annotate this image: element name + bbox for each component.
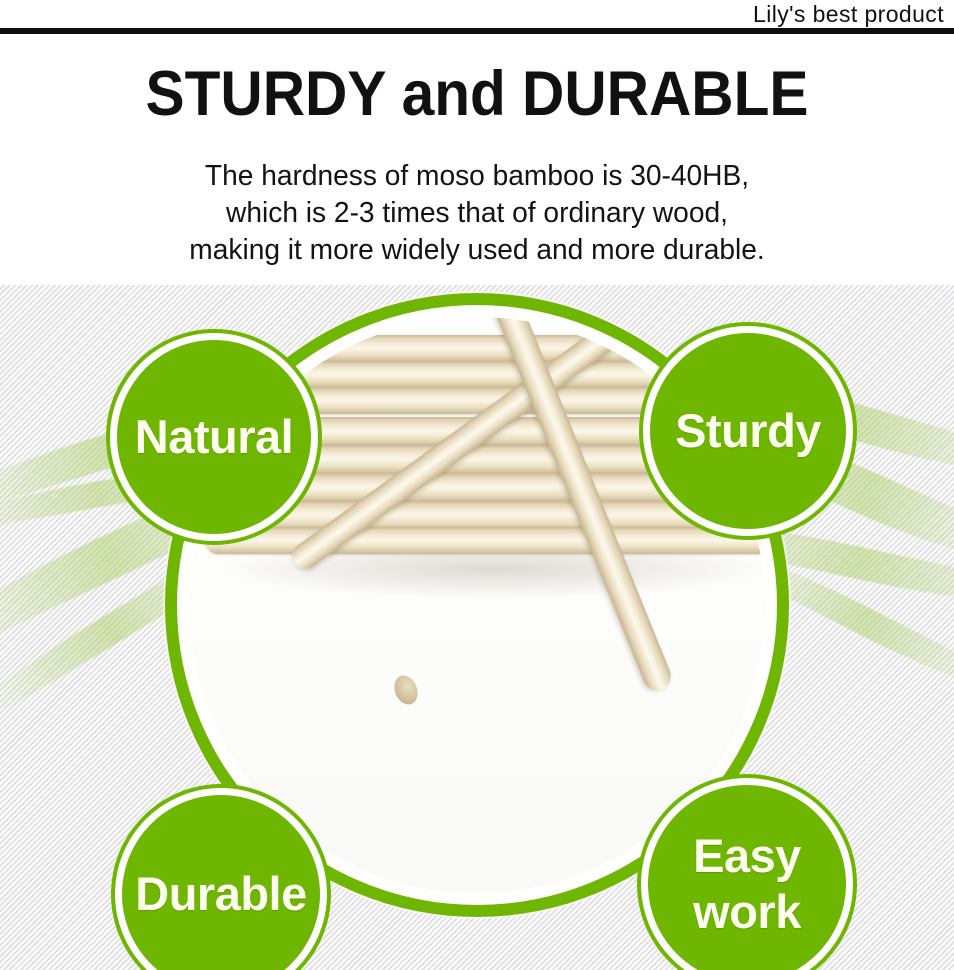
feature-badge-label-line-1: Easy xyxy=(693,829,801,882)
description-line-1: The hardness of moso bamboo is 30-40HB, xyxy=(14,158,939,195)
brand-bar: Lily's best product xyxy=(0,0,954,28)
bamboo-rod xyxy=(205,527,765,554)
description-line-2: which is 2-3 times that of ordinary wood… xyxy=(14,195,939,232)
feature-badge-sturdy[interactable]: Sturdy xyxy=(650,333,846,529)
feature-badge-label: Easy work xyxy=(687,828,807,940)
feature-badge-label-line-2: work xyxy=(693,885,801,938)
description-text: The hardness of moso bamboo is 30-40HB, … xyxy=(14,158,939,269)
description-line-3: making it more widely used and more dura… xyxy=(14,232,939,269)
feature-badge-easy-work[interactable]: Easy work xyxy=(648,785,846,970)
page-title: STURDY and DURABLE xyxy=(33,56,920,132)
product-infographic: Lily's best product STURDY and DURABLE T… xyxy=(0,0,954,970)
feature-badge-label: Sturdy xyxy=(669,404,827,458)
header-divider-rule xyxy=(0,28,954,34)
feature-panel: Natural Sturdy Durable Easy work xyxy=(0,285,954,970)
bamboo-rod-end-cap xyxy=(390,672,422,708)
feature-badge-label: Natural xyxy=(129,410,299,464)
feature-badge-label: Durable xyxy=(129,867,313,921)
brand-label: Lily's best product xyxy=(753,0,954,28)
bamboo-rod xyxy=(199,335,765,362)
feature-badge-natural[interactable]: Natural xyxy=(117,340,311,534)
